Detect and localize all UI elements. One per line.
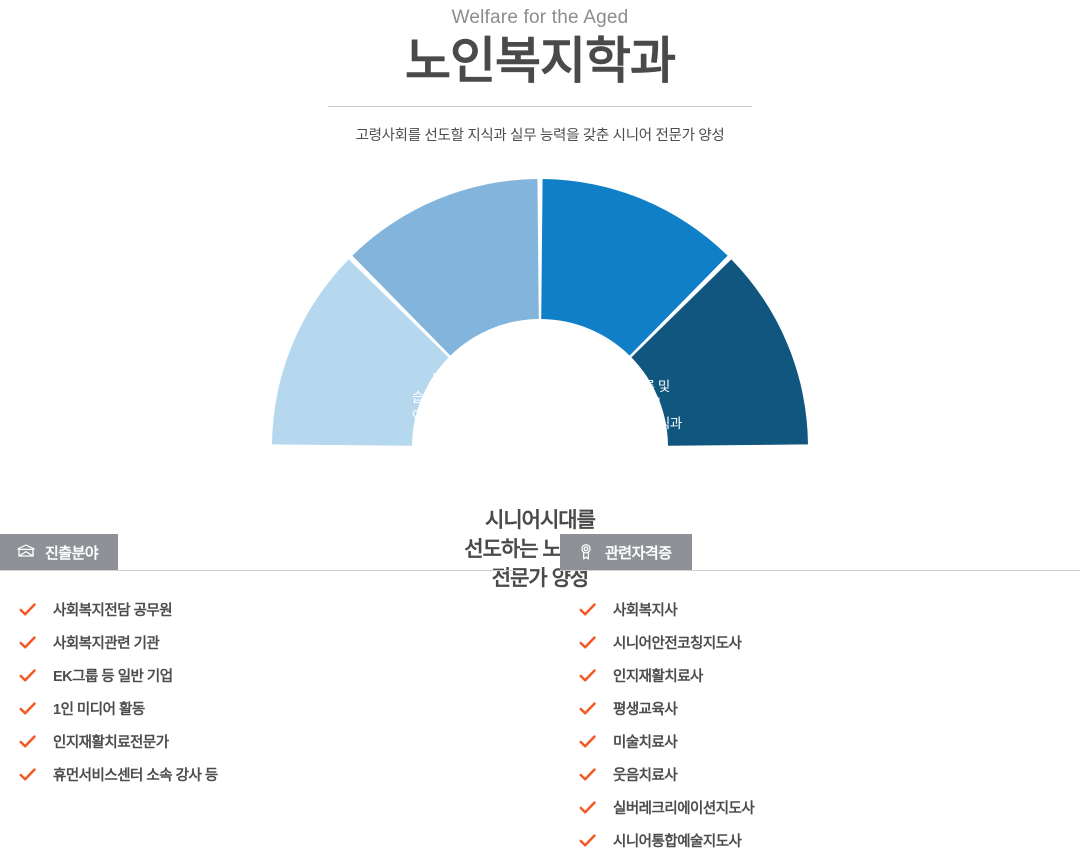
section-tab: 관련자격증 <box>560 534 692 570</box>
list-item-label: 1인 미디어 활동 <box>53 698 145 719</box>
check-icon <box>578 633 597 652</box>
list-item-label: 미술치료사 <box>613 731 677 752</box>
check-icon <box>18 633 37 652</box>
section-title: 진출분야 <box>45 542 98 563</box>
section-tab: 진출분야 <box>0 534 118 570</box>
check-icon <box>578 666 597 685</box>
header-eyebrow: Welfare for the Aged <box>0 6 1080 31</box>
page-header: Welfare for the Aged 노인복지학과 고령사회를 선도할 지식… <box>0 0 1080 145</box>
list-item-label: 사회복지전담 공무원 <box>53 599 172 620</box>
section-header: 진출분야 <box>0 534 520 570</box>
vision-semicircle-diagram: 노인에대한 신체· 심리·복지적 측면의 기초 교육과정 제공 통합적으로 습득… <box>0 159 1080 459</box>
list-item: 사회복지사 <box>560 593 1080 626</box>
list-item: 사회복지관련 기관 <box>0 626 520 659</box>
section-header: 관련자격증 <box>560 534 1080 570</box>
list-item: 1인 미디어 활동 <box>0 692 520 725</box>
certificates-list: 사회복지사 시니어안전코칭지도사 인지재활치료사 <box>560 571 1080 857</box>
section-career-fields: 진출분야 사회복지전담 공무원 사회복지관련 기관 <box>0 534 520 857</box>
list-item: 인지재활치료전문가 <box>0 725 520 758</box>
info-columns: 진출분야 사회복지전담 공무원 사회복지관련 기관 <box>0 534 1080 857</box>
list-item: 실버레크리에이션지도사 <box>560 791 1080 824</box>
semicircle-chart-svg <box>0 159 1080 459</box>
check-icon <box>18 600 37 619</box>
header-subtitle: 고령사회를 선도할 지식과 실무 능력을 갖춘 시니어 전문가 양성 <box>0 124 1080 145</box>
check-icon <box>578 732 597 751</box>
check-icon <box>578 765 597 784</box>
list-item-label: 웃음치료사 <box>613 764 677 785</box>
list-item: 웃음치료사 <box>560 758 1080 791</box>
list-item: 휴먼서비스센터 소속 강사 등 <box>0 758 520 791</box>
list-item: 인지재활치료사 <box>560 659 1080 692</box>
check-icon <box>578 831 597 850</box>
list-item: 시니어통합예술지도사 <box>560 824 1080 857</box>
graduation-cap-icon <box>16 542 36 562</box>
list-item-label: 사회복지관련 기관 <box>53 632 159 653</box>
list-item: 사회복지전담 공무원 <box>0 593 520 626</box>
career-fields-list: 사회복지전담 공무원 사회복지관련 기관 EK그룹 등 일반 기업 <box>0 571 520 791</box>
list-item: 평생교육사 <box>560 692 1080 725</box>
title-divider <box>328 106 752 107</box>
list-item-label: 사회복지사 <box>613 599 677 620</box>
list-item-label: 휴먼서비스센터 소속 강사 등 <box>53 764 218 785</box>
page-title: 노인복지학과 <box>0 33 1080 91</box>
list-item-label: EK그룹 등 일반 기업 <box>53 665 173 686</box>
check-icon <box>18 732 37 751</box>
check-icon <box>578 600 597 619</box>
award-medal-icon <box>576 542 596 562</box>
list-item: EK그룹 등 일반 기업 <box>0 659 520 692</box>
check-icon <box>578 798 597 817</box>
list-item-label: 인지재활치료사 <box>613 665 703 686</box>
check-icon <box>18 666 37 685</box>
list-item-label: 시니어통합예술지도사 <box>613 830 741 851</box>
list-item-label: 평생교육사 <box>613 698 677 719</box>
list-item-label: 시니어안전코칭지도사 <box>613 632 741 653</box>
section-related-certificates: 관련자격증 사회복지사 시니어안전코칭지도사 <box>560 534 1080 857</box>
list-item: 시니어안전코칭지도사 <box>560 626 1080 659</box>
check-icon <box>578 699 597 718</box>
list-item-label: 인지재활치료전문가 <box>53 731 169 752</box>
check-icon <box>18 699 37 718</box>
section-title: 관련자격증 <box>605 542 672 563</box>
check-icon <box>18 765 37 784</box>
list-item-label: 실버레크리에이션지도사 <box>613 797 754 818</box>
list-item: 미술치료사 <box>560 725 1080 758</box>
